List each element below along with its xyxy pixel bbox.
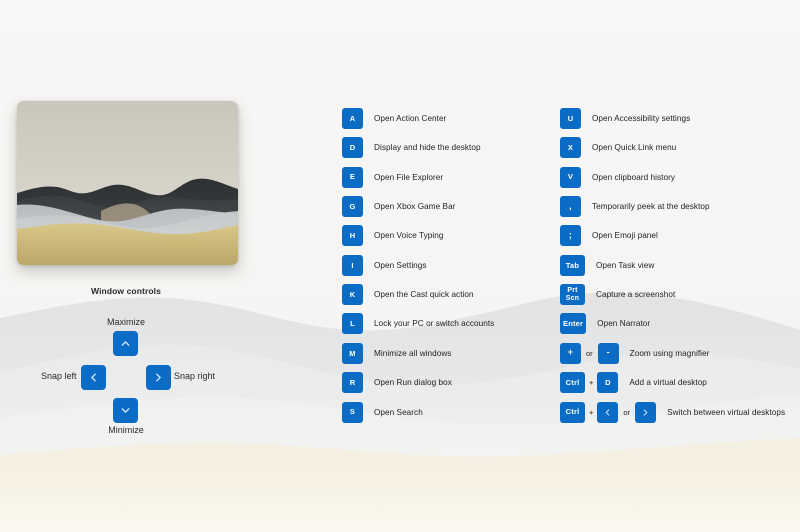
chevron-down-icon <box>120 405 131 416</box>
minimize-button[interactable] <box>113 398 138 423</box>
shortcut-row: SOpen Search <box>342 402 423 423</box>
snap-left-button[interactable] <box>81 365 106 390</box>
shortcut-row: DDisplay and hide the desktop <box>342 137 481 158</box>
shortcut-description: Temporarily peek at the desktop <box>592 202 710 211</box>
key-a[interactable]: A <box>342 108 363 129</box>
chevron-up-icon <box>120 338 131 349</box>
key-l[interactable]: L <box>342 313 363 334</box>
key-label: K <box>350 291 356 299</box>
key-k[interactable]: K <box>342 284 363 305</box>
key-label: U <box>568 115 574 123</box>
shortcut-description: Open Action Center <box>374 114 446 123</box>
key-m[interactable]: M <box>342 343 363 364</box>
key-label: A <box>350 115 356 123</box>
shortcut-description: Open Xbox Game Bar <box>374 202 455 211</box>
chevron-left-icon <box>88 372 99 383</box>
shortcut-description: Display and hide the desktop <box>374 143 481 152</box>
key-+[interactable]: + <box>560 343 581 364</box>
shortcut-row: +or-Zoom using magnifier <box>560 343 709 364</box>
key-i[interactable]: I <box>342 255 363 276</box>
shortcut-row: UOpen Accessibility settings <box>560 108 690 129</box>
snap-left-label: Snap left <box>41 371 77 381</box>
key-d[interactable]: D <box>597 372 618 393</box>
shortcut-description: Open clipboard history <box>592 173 675 182</box>
shortcut-description: Add a virtual desktop <box>629 378 707 387</box>
key-chevron-left[interactable] <box>597 402 618 423</box>
shortcut-description: Open Task view <box>596 261 654 270</box>
shortcut-row: KOpen the Cast quick action <box>342 284 474 305</box>
shortcut-description: Open Settings <box>374 261 427 270</box>
key-label: Ctrl <box>566 379 580 387</box>
shortcut-description: Lock your PC or switch accounts <box>374 319 494 328</box>
shortcut-description: Open Emoji panel <box>592 231 658 240</box>
shortcut-row: ROpen Run dialog box <box>342 372 452 393</box>
shortcut-row: ;Open Emoji panel <box>560 225 658 246</box>
shortcut-description: Switch between virtual desktops <box>667 408 785 417</box>
shortcut-row: PrtScnCapture a screenshot <box>560 284 675 305</box>
shortcut-row: VOpen clipboard history <box>560 167 675 188</box>
key-label: H <box>350 232 356 240</box>
key-label: Tab <box>566 262 579 270</box>
key-label: Ctrl <box>566 408 580 416</box>
shortcut-description: Open Search <box>374 408 423 417</box>
key-joiner-plus: + <box>589 402 593 423</box>
shortcut-row: TabOpen Task view <box>560 255 654 276</box>
key-enter[interactable]: Enter <box>560 313 586 334</box>
key--[interactable]: - <box>598 343 619 364</box>
window-controls-diagram: Window controls Maximize Minimize Snap l… <box>0 0 260 532</box>
key-r[interactable]: R <box>342 372 363 393</box>
shortcut-description: Open Narrator <box>597 319 650 328</box>
window-controls-title: Window controls <box>0 286 252 296</box>
key-chevron-right[interactable] <box>635 402 656 423</box>
shortcut-row: LLock your PC or switch accounts <box>342 313 494 334</box>
key-prt-scn[interactable]: PrtScn <box>560 284 585 305</box>
key-u[interactable]: U <box>560 108 581 129</box>
shortcut-row: HOpen Voice Typing <box>342 225 443 246</box>
shortcut-description: Open File Explorer <box>374 173 443 182</box>
shortcut-row: AOpen Action Center <box>342 108 446 129</box>
minimize-label: Minimize <box>0 425 252 435</box>
key-tab[interactable]: Tab <box>560 255 585 276</box>
shortcut-row: EnterOpen Narrator <box>560 313 650 334</box>
key-;[interactable]: ; <box>560 225 581 246</box>
key-ctrl[interactable]: Ctrl <box>560 372 585 393</box>
snap-right-button[interactable] <box>146 365 171 390</box>
key-e[interactable]: E <box>342 167 363 188</box>
key-label: Scn <box>566 295 579 303</box>
key-label: S <box>350 408 355 416</box>
key-label: I <box>351 262 353 270</box>
key-d[interactable]: D <box>342 137 363 158</box>
key-label: G <box>349 203 355 211</box>
shortcut-description: Capture a screenshot <box>596 290 675 299</box>
shortcut-row: EOpen File Explorer <box>342 167 443 188</box>
chevron-right-icon <box>641 408 650 417</box>
shortcut-row: MMinimize all windows <box>342 343 451 364</box>
maximize-label: Maximize <box>0 317 252 327</box>
key-label: L <box>350 320 355 328</box>
key-g[interactable]: G <box>342 196 363 217</box>
key-label: D <box>605 379 611 387</box>
key-v[interactable]: V <box>560 167 581 188</box>
shortcut-row: IOpen Settings <box>342 255 427 276</box>
shortcut-description: Zoom using magnifier <box>630 349 710 358</box>
key-joiner-or: or <box>623 402 630 423</box>
key-h[interactable]: H <box>342 225 363 246</box>
shortcut-description: Open Quick Link menu <box>592 143 676 152</box>
key-x[interactable]: X <box>560 137 581 158</box>
key-label: ; <box>569 231 572 240</box>
key-label: - <box>607 348 610 357</box>
shortcut-row: GOpen Xbox Game Bar <box>342 196 455 217</box>
key-label: R <box>350 379 356 387</box>
chevron-left-icon <box>603 408 612 417</box>
shortcut-row: ,Temporarily peek at the desktop <box>560 196 710 217</box>
key-ctrl[interactable]: Ctrl <box>560 402 585 423</box>
key-label: X <box>568 144 573 152</box>
snap-right-label: Snap right <box>174 371 215 381</box>
key-s[interactable]: S <box>342 402 363 423</box>
key-label: M <box>349 350 355 358</box>
key-joiner-plus: + <box>589 372 593 393</box>
shortcut-description: Open Accessibility settings <box>592 114 690 123</box>
shortcut-row: Ctrl+DAdd a virtual desktop <box>560 372 707 393</box>
shortcut-description: Open the Cast quick action <box>374 290 474 299</box>
key-label: D <box>350 144 356 152</box>
shortcut-description: Open Voice Typing <box>374 231 443 240</box>
maximize-button[interactable] <box>113 331 138 356</box>
key-,[interactable]: , <box>560 196 581 217</box>
key-label: E <box>350 173 355 181</box>
key-label: + <box>568 348 573 357</box>
shortcut-description: Minimize all windows <box>374 349 451 358</box>
key-label: , <box>569 202 572 211</box>
key-label: Enter <box>563 320 583 328</box>
key-label: Prt <box>567 287 577 295</box>
shortcut-row: XOpen Quick Link menu <box>560 137 676 158</box>
chevron-right-icon <box>153 372 164 383</box>
key-label: V <box>568 173 573 181</box>
shortcut-row: Ctrl+orSwitch between virtual desktops <box>560 402 785 423</box>
shortcut-description: Open Run dialog box <box>374 378 452 387</box>
key-joiner-or: or <box>586 343 593 364</box>
